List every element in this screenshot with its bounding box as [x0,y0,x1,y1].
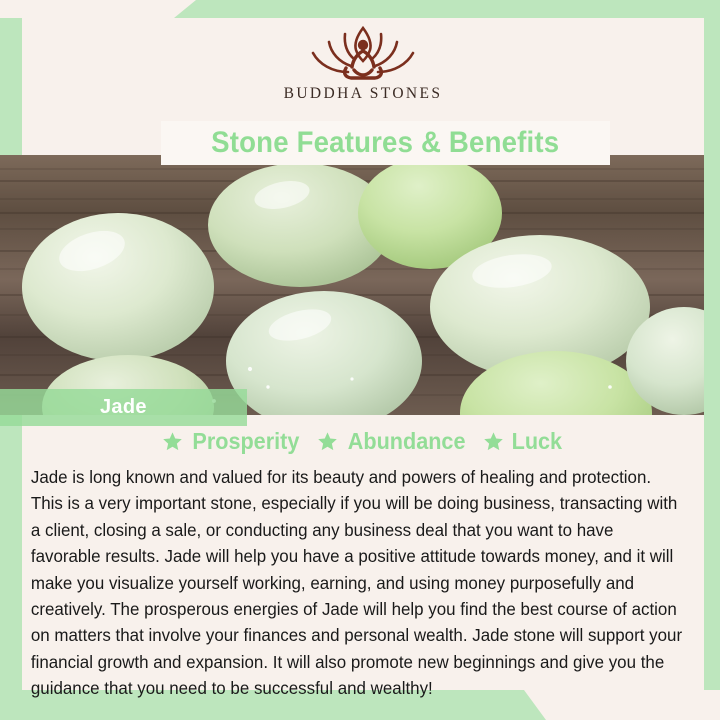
page-title: Stone Features & Benefits [211,126,559,160]
page-title-banner: Stone Features & Benefits [161,121,610,165]
photo-caption-band: Jade [0,389,247,426]
star-icon [162,431,183,452]
benefit-item-prosperity: Prosperity [162,428,303,455]
benefit-item-abundance: Abundance [317,428,469,455]
stone-description: Jade is long known and valued for its be… [22,464,694,702]
star-icon [483,431,504,452]
star-icon [317,431,338,452]
brand-header: BUDDHA STONES [22,18,704,106]
lotus-meditation-icon [299,22,427,84]
benefit-label: Prosperity [193,428,300,455]
photo-caption-label: Jade [100,396,147,419]
benefit-item-luck: Luck [483,428,564,455]
frame-right-green-band [704,0,720,720]
jade-stones-photo [0,155,704,415]
brand-name: BUDDHA STONES [284,85,443,103]
benefits-row: Prosperity Abundance Luck [22,428,704,455]
benefit-label: Abundance [348,428,466,455]
info-card: BUDDHA STONES [22,18,704,690]
benefit-label: Luck [512,428,562,455]
